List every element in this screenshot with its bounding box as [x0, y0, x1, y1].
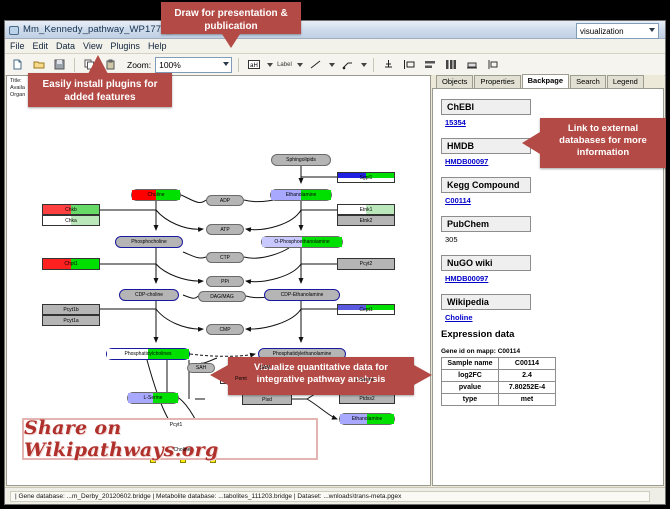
metabolite-node-ctp[interactable]: CTP — [206, 252, 244, 263]
callout-plugins: Easily install plugins for added feature… — [28, 73, 172, 107]
node-label: Chka — [65, 218, 77, 224]
gene-node-chka[interactable]: Chka — [42, 215, 100, 226]
table-row: pvalue7.80252E-4 — [442, 382, 556, 394]
callout-link: Link to external databases for more info… — [540, 118, 666, 168]
node-label: Ethanolamine — [286, 192, 317, 198]
metabolite-node-phosphocholine[interactable]: Phosphocholine — [115, 236, 183, 248]
gene-node-cept1[interactable]: Cept1 — [337, 304, 395, 315]
node-label: Phosphatidylcholines — [125, 351, 172, 357]
metabolite-node-cdp-choline[interactable]: CDP-choline — [119, 289, 179, 301]
node-label: Chkb — [65, 207, 77, 213]
expression-data-heading: Expression data — [441, 329, 655, 340]
chevron-down-icon[interactable] — [267, 63, 273, 67]
callout-visualize-arrow-right — [414, 365, 432, 385]
expression-value: met — [499, 394, 556, 406]
node-label: ADP — [220, 198, 230, 204]
gene-node-etnk2[interactable]: Etnk2 — [337, 215, 395, 226]
menu-item-plugins[interactable]: Plugins — [110, 41, 140, 51]
anchor-icon[interactable] — [380, 56, 397, 73]
node-label: Pcyt1a — [63, 318, 78, 324]
expression-key: type — [442, 394, 499, 406]
expression-value: 7.80252E-4 — [499, 382, 556, 394]
title-bar: Mm_Kennedy_pathway_WP1771_45176.gpml — [5, 21, 665, 39]
db-value-pubchem: 305 — [445, 235, 655, 244]
callout-visualize-arrow — [210, 365, 228, 385]
new-file-icon[interactable] — [9, 56, 26, 73]
metabolite-node-atp[interactable]: ATP — [206, 224, 244, 235]
table-row: log2FC2.4 — [442, 370, 556, 382]
menu-item-view[interactable]: View — [83, 41, 102, 51]
visualization-select[interactable]: visualization — [576, 23, 659, 39]
db-header-nugo-wiki: NuGO wiki — [441, 255, 531, 271]
node-label: Pcyt1b — [63, 307, 78, 313]
chevron-down-icon[interactable] — [329, 63, 335, 67]
table-row: typemet — [442, 394, 556, 406]
node-label: Sphingolipids — [286, 157, 316, 163]
screenshot-root: Mm_Kennedy_pathway_WP1771_45176.gpml Fil… — [0, 0, 670, 509]
metabolite-node-adp[interactable]: ADP — [206, 195, 244, 206]
db-link-nugo-wiki[interactable]: HMDB00097 — [445, 274, 655, 283]
menu-bar: File Edit Data View Plugins Help — [5, 39, 665, 54]
metabolite-node-ethanolamine[interactable]: Ethanolamine — [270, 189, 332, 201]
order-icon[interactable] — [485, 56, 502, 73]
zoom-label: Zoom: — [127, 60, 151, 70]
menu-item-edit[interactable]: Edit — [33, 41, 49, 51]
expression-value: 2.4 — [499, 370, 556, 382]
node-label: Pisd — [262, 397, 272, 403]
node-label: Pcyt2 — [360, 261, 373, 267]
gene-node-sgpl1[interactable]: Sgpl1 — [337, 172, 395, 183]
arrow-shape-icon[interactable] — [339, 56, 356, 73]
node-label: CTP — [220, 255, 230, 261]
node-label: O-Phosphoethanolamine — [274, 239, 329, 245]
node-label: CMP — [219, 327, 230, 333]
db-link-wikipedia[interactable]: Choline — [445, 313, 655, 322]
chevron-down-icon — [223, 62, 229, 66]
node-label: Pcyt1 — [170, 422, 183, 428]
tab-backpage[interactable]: Backpage — [522, 74, 569, 88]
node-label: Phosphocholine — [131, 239, 167, 245]
metabolite-node-ppi[interactable]: PPi — [206, 276, 244, 287]
save-icon[interactable] — [51, 56, 68, 73]
svg-text:aH: aH — [250, 63, 258, 69]
gene-node-pcyt2[interactable]: Pcyt2 — [337, 258, 395, 270]
node-label: CDP-choline — [135, 292, 163, 298]
metabolite-node-choline[interactable]: Choline — [131, 189, 181, 201]
gene-node-pcyt1b[interactable]: Pcyt1b — [42, 304, 100, 315]
side-panel-tabs: ObjectsPropertiesBackpageSearchLegend — [432, 75, 664, 88]
db-header-chebi: ChEBI — [441, 99, 531, 115]
node-label: Etnk1 — [360, 207, 373, 213]
app-icon — [8, 24, 19, 35]
db-header-wikipedia: Wikipedia — [441, 294, 531, 310]
tab-objects[interactable]: Objects — [436, 75, 473, 88]
toolbar-separator — [373, 58, 374, 72]
db-header-pubchem: PubChem — [441, 216, 531, 232]
node-label: CDP-Ethanolamine — [281, 292, 324, 298]
node-label: Cept1 — [359, 307, 372, 313]
visualization-value: visualization — [580, 27, 624, 36]
status-bar: | Gene database: ...m_Derby_20120602.bri… — [5, 487, 665, 504]
metabolite-node-dag-mag[interactable]: DAG/MAG — [198, 291, 246, 302]
menu-item-help[interactable]: Help — [148, 41, 167, 51]
metabolite-node-o-phosphoethanolamine[interactable]: O-Phosphoethanolamine — [261, 236, 343, 248]
metabolite-node-l-serine[interactable]: L-Serine — [127, 392, 179, 404]
zoom-value: 100% — [159, 60, 181, 70]
expression-key: pvalue — [442, 382, 499, 394]
text-format-icon[interactable]: aH — [245, 56, 262, 73]
metabolite-node-phosphatidylcholines[interactable]: Phosphatidylcholines — [106, 348, 190, 360]
menu-item-file[interactable]: File — [10, 41, 25, 51]
node-label: ATP — [220, 227, 229, 233]
node-label: Ethanolamine — [352, 416, 383, 422]
menu-item-data[interactable]: Data — [56, 41, 75, 51]
node-label: Ptdss2 — [359, 396, 374, 402]
open-folder-icon[interactable] — [30, 56, 47, 73]
chevron-down-icon — [649, 28, 655, 32]
distribute-icon[interactable] — [422, 56, 439, 73]
expression-value: C00114 — [499, 358, 556, 370]
label-button[interactable]: Label — [277, 62, 292, 68]
gene-node-pcyt1a[interactable]: Pcyt1a — [42, 315, 100, 326]
node-label: PPi — [221, 279, 229, 285]
stack-icon[interactable] — [443, 56, 460, 73]
node-label: L-Serine — [144, 395, 163, 401]
tab-legend[interactable]: Legend — [607, 75, 644, 88]
node-label: Chpt1 — [64, 261, 77, 267]
node-label: Pemt — [235, 376, 247, 382]
callout-draw: Draw for presentation & publication — [161, 2, 301, 34]
db-header-hmdb: HMDB — [441, 138, 531, 154]
expression-key: log2FC — [442, 370, 499, 382]
gene-node-pisd[interactable]: Pisd — [242, 394, 292, 405]
callout-plugins-arrow — [88, 55, 108, 74]
callout-link-arrow — [522, 132, 540, 154]
node-label: Choline — [148, 192, 165, 198]
table-row: Sample nameC00114 — [442, 358, 556, 370]
db-header-kegg-compound: Kegg Compound — [441, 177, 531, 193]
metabolite-node-cmp[interactable]: CMP — [206, 324, 244, 335]
callout-draw-arrow — [222, 34, 240, 48]
toolbar-separator — [238, 58, 239, 72]
toolbar-separator — [74, 58, 75, 72]
node-label: L-Serine — [356, 377, 375, 383]
metabolite-node-sphingolipids[interactable]: Sphingolipids — [271, 154, 331, 166]
align-left-icon[interactable] — [401, 56, 418, 73]
callout-visualize: Visualize quantitative data for integrat… — [228, 357, 414, 395]
line-icon[interactable] — [307, 56, 324, 73]
node-label: Choline — [174, 447, 191, 453]
metabolite-node-cdp-ethanolamine[interactable]: CDP-Ethanolamine — [264, 289, 340, 301]
gene-node-etnk1[interactable]: Etnk1 — [337, 204, 395, 215]
expression-key: Sample name — [442, 358, 499, 370]
node-label: Sgpl1 — [360, 175, 373, 181]
node-label: Phosphatidylethanolamine — [273, 351, 332, 357]
tab-search[interactable]: Search — [570, 75, 606, 88]
expression-table: Sample nameC00114log2FC2.4pvalue7.80252E… — [441, 357, 556, 406]
gene-node-chpt1[interactable]: Chpt1 — [42, 258, 100, 270]
zoom-select[interactable]: 100% — [155, 57, 232, 73]
node-label: DAG/MAG — [210, 294, 234, 300]
metabolite-node-ethanolamine[interactable]: Ethanolamine — [339, 413, 395, 425]
chevron-down-icon[interactable] — [361, 63, 367, 67]
gene-id-label: Gene id on mapp: C00114 — [441, 348, 655, 355]
node-label: Etnk2 — [360, 218, 373, 224]
db-link-kegg-compound[interactable]: C00114 — [445, 196, 655, 205]
group-icon[interactable] — [464, 56, 481, 73]
gene-node-chkb[interactable]: Chkb — [42, 204, 100, 215]
status-text: | Gene database: ...m_Derby_20120602.bri… — [10, 491, 650, 502]
chevron-down-icon[interactable] — [297, 63, 303, 67]
tab-properties[interactable]: Properties — [474, 75, 520, 88]
node-label: SAH — [196, 365, 206, 371]
node-label: SAM — [260, 365, 271, 371]
